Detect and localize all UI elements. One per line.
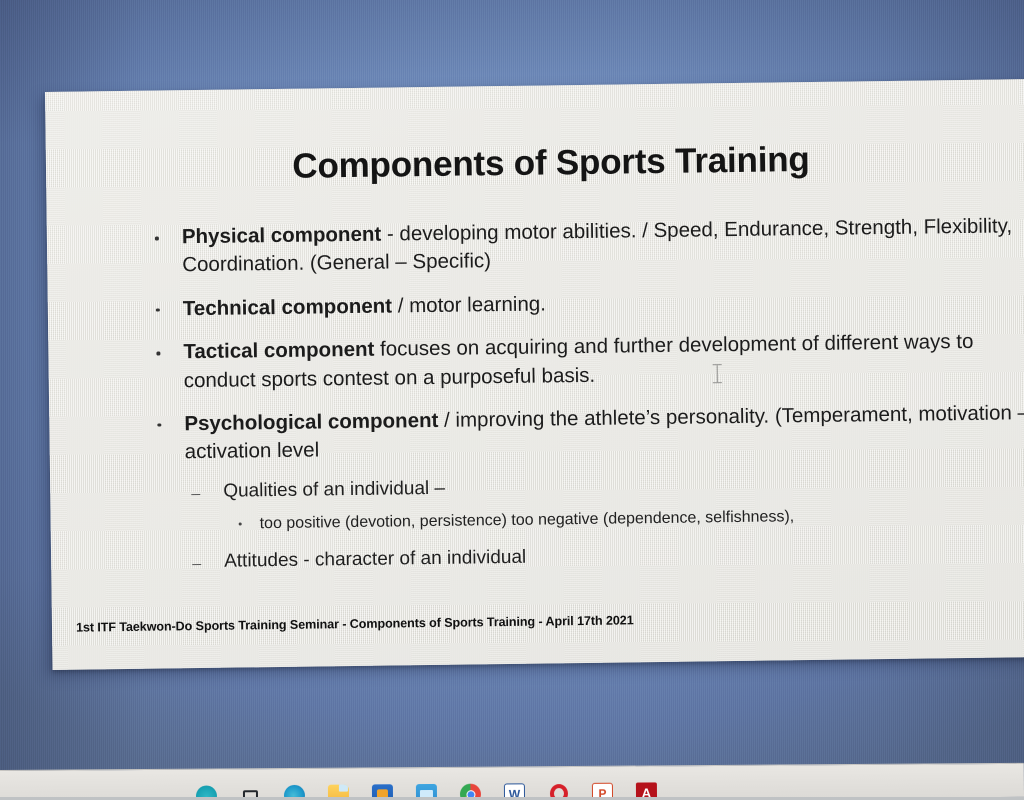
bullet-dash-icon: [192, 564, 201, 566]
slide-surface[interactable]: Components of Sports Training Physical c…: [45, 79, 1024, 670]
bullet-term: Tactical component: [183, 338, 374, 363]
sub-bullet-attitudes: Attitudes - character of an individual: [147, 538, 1024, 576]
bullet-term: Technical component: [183, 294, 393, 320]
sub-bullet-text: Attitudes - character of an individual: [224, 546, 526, 571]
bullet-item-physical: Physical component - developing motor ab…: [143, 212, 1024, 280]
bullet-text: / motor learning.: [392, 292, 546, 317]
desktop-background: Components of Sports Training Physical c…: [0, 0, 1024, 800]
bullet-dot-icon: [239, 523, 242, 526]
bullet-dot-icon: [157, 423, 161, 427]
powerpoint-slide[interactable]: Components of Sports Training Physical c…: [45, 79, 1024, 670]
sub-bullet-text: Qualities of an individual –: [223, 478, 445, 502]
windows-taskbar[interactable]: W P A: [0, 763, 1024, 800]
bullet-term: Psychological component: [184, 409, 438, 435]
slide-body-list: Physical component - developing motor ab…: [143, 212, 1024, 576]
sub-sub-bullet-text: too positive (devotion, persistence) too…: [260, 509, 795, 533]
bullet-dot-icon: [155, 237, 159, 241]
bullet-dash-icon: [191, 494, 200, 496]
bullet-item-tactical: Tactical component focuses on acquiring …: [144, 327, 1024, 395]
bullet-dot-icon: [156, 352, 160, 356]
sub-bullet-qualities: Qualities of an individual –: [146, 468, 1024, 506]
sub-sub-bullet-positive-negative: too positive (devotion, persistence) too…: [147, 503, 1024, 537]
bullet-term: Physical component: [182, 223, 382, 249]
bullet-item-psychological: Psychological component / improving the …: [145, 399, 1024, 467]
bullet-dot-icon: [156, 308, 160, 312]
slide-footer: 1st ITF Taekwon-Do Sports Training Semin…: [76, 613, 634, 634]
slide-title: Components of Sports Training: [46, 137, 1024, 190]
